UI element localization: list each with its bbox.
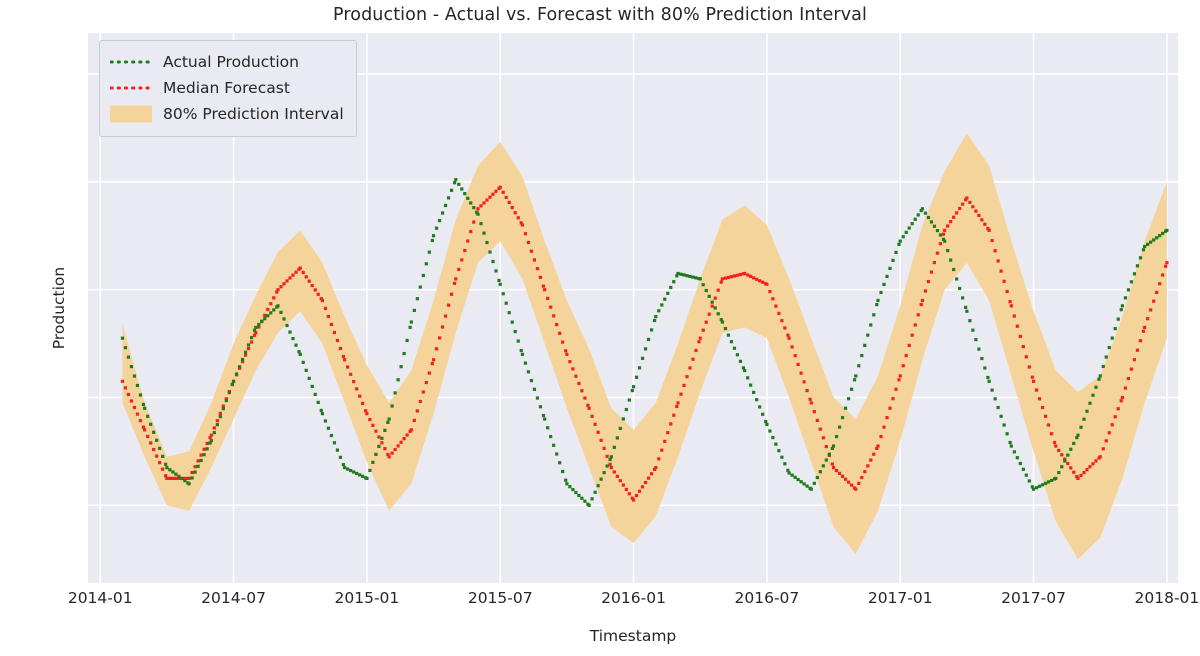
y-axis-label-box: Production — [18, 299, 100, 317]
legend-swatch-actual — [110, 55, 152, 69]
legend-swatch-forecast — [110, 81, 152, 95]
legend-label-forecast: Median Forecast — [163, 79, 290, 97]
x-tick-label: 2017-07 — [1001, 589, 1066, 607]
x-tick-label: 2015-01 — [334, 589, 399, 607]
x-tick-label: 2014-07 — [201, 589, 266, 607]
x-tick-label: 2016-07 — [734, 589, 799, 607]
x-tick-label: 2016-01 — [601, 589, 666, 607]
chart-title: Production - Actual vs. Forecast with 80… — [0, 5, 1200, 25]
legend-item-actual: Actual Production — [110, 49, 344, 75]
band-patch-icon — [110, 106, 152, 123]
legend-item-forecast: Median Forecast — [110, 75, 344, 101]
legend-label-actual: Actual Production — [163, 53, 299, 71]
legend-label-interval: 80% Prediction Interval — [163, 105, 344, 123]
x-tick-label: 2017-01 — [868, 589, 933, 607]
plot-area: 90100110120130 2014-012014-072015-012015… — [88, 33, 1178, 583]
x-axis-label: Timestamp — [88, 627, 1178, 645]
legend-item-interval: 80% Prediction Interval — [110, 101, 344, 127]
x-tick-label: 2014-01 — [68, 589, 133, 607]
chart-legend: Actual Production Median Forecast 80% Pr… — [99, 40, 357, 137]
legend-swatch-interval — [110, 107, 152, 121]
chart-figure: Production - Actual vs. Forecast with 80… — [0, 0, 1200, 656]
dotted-line-icon — [110, 87, 152, 90]
y-axis-label: Production — [50, 267, 68, 349]
dotted-line-icon — [110, 61, 152, 64]
x-tick-label: 2018-01 — [1134, 589, 1199, 607]
x-tick-label: 2015-07 — [468, 589, 533, 607]
